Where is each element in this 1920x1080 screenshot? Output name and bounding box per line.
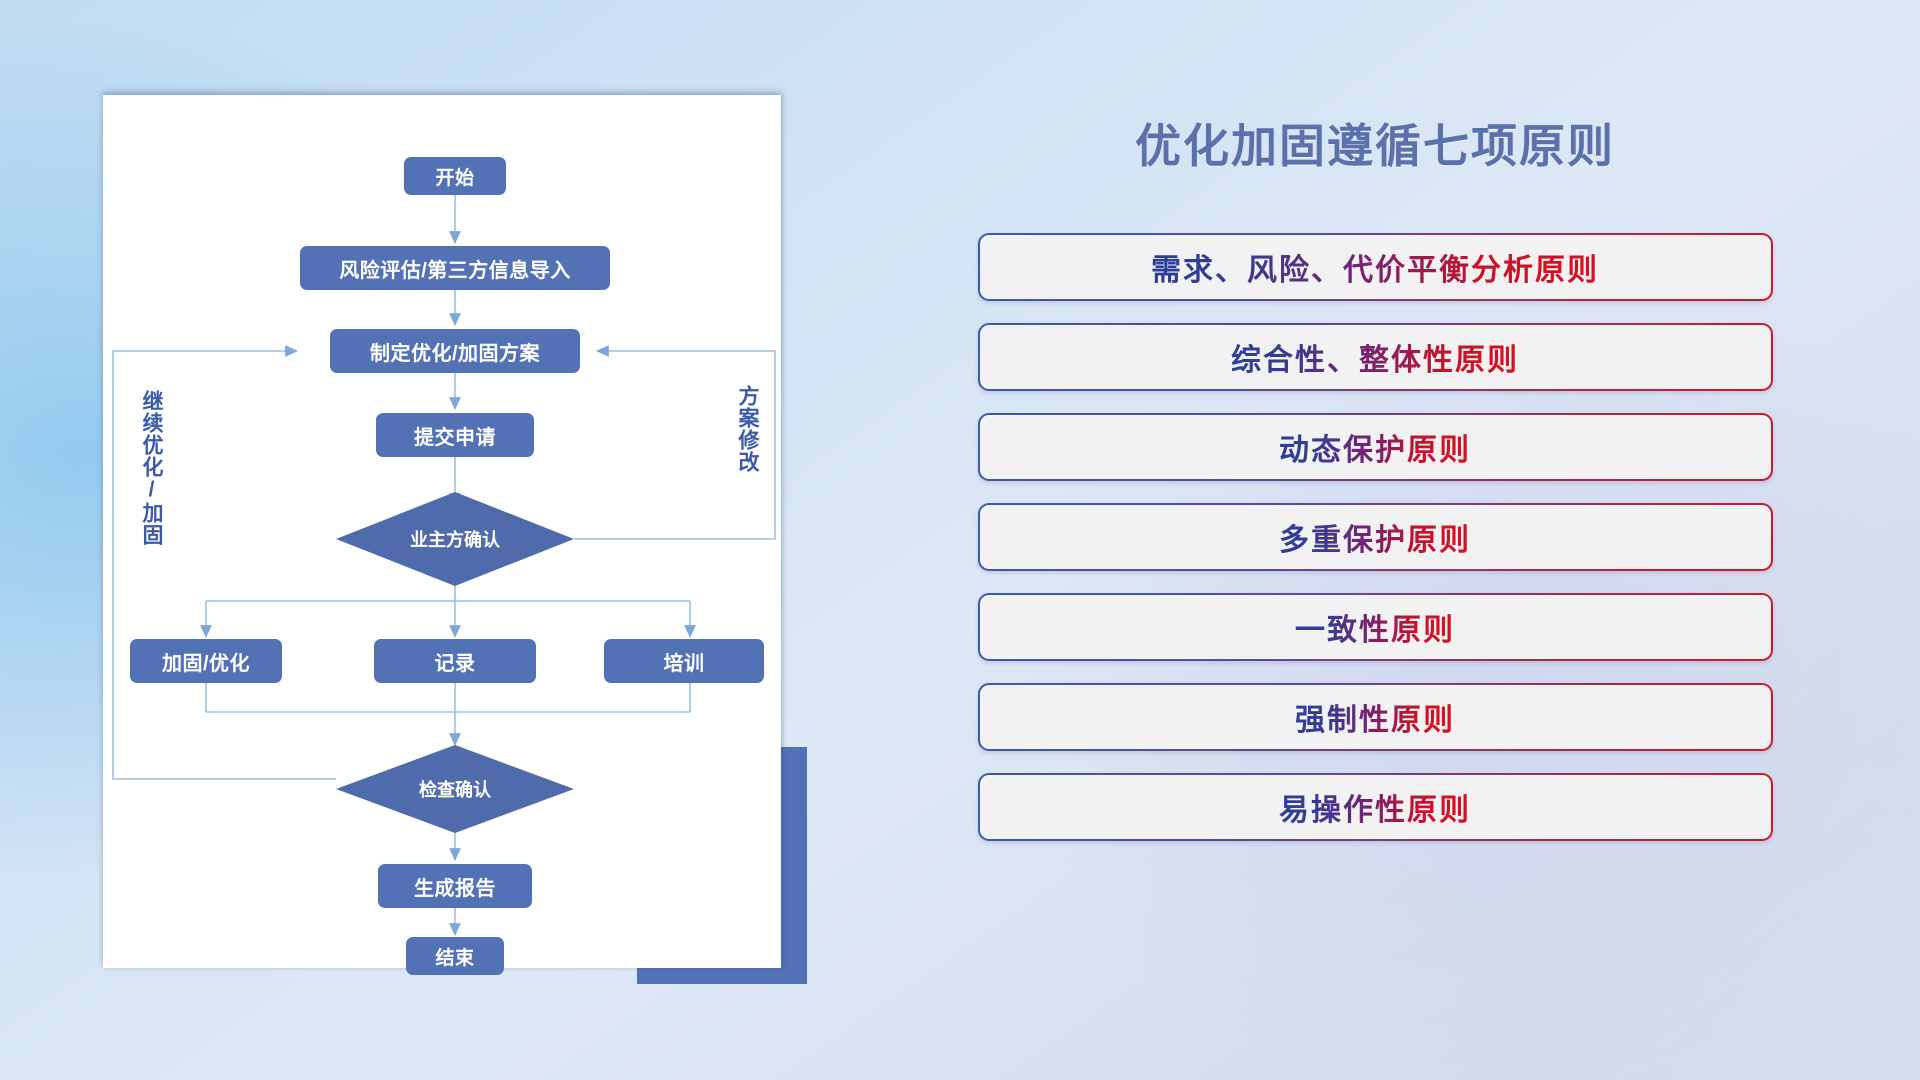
flow-node-label: 提交申请 — [414, 421, 496, 450]
principle-label: 需求、风险、代价平衡分析原则 — [1151, 245, 1599, 289]
flow-node-label: 记录 — [435, 647, 476, 676]
principle-label: 易操作性原则 — [1279, 785, 1471, 829]
principle-item[interactable]: 需求、风险、代价平衡分析原则 — [978, 233, 1773, 301]
principles-panel: 优化加固遵循七项原则 需求、风险、代价平衡分析原则 综合性、整体性原则 动态保护… — [830, 0, 1920, 1080]
flow-node-label: 业主方确认 — [410, 526, 500, 552]
panel-title: 优化加固遵循七项原则 — [830, 110, 1920, 176]
flow-node-plan[interactable]: 制定优化/加固方案 — [330, 329, 580, 373]
principle-item[interactable]: 易操作性原则 — [978, 773, 1773, 841]
flow-edge-label-plan-revision: 方案修改 — [736, 385, 758, 473]
flow-node-reinforce-optimize[interactable]: 加固/优化 — [130, 639, 282, 683]
principle-item-inner: 动态保护原则 — [980, 415, 1771, 479]
flow-node-generate-report[interactable]: 生成报告 — [378, 864, 532, 908]
flow-node-end[interactable]: 结束 — [406, 937, 504, 975]
flow-node-risk-assessment[interactable]: 风险评估/第三方信息导入 — [300, 246, 610, 290]
principle-item-inner: 多重保护原则 — [980, 505, 1771, 569]
principle-item[interactable]: 多重保护原则 — [978, 503, 1773, 571]
flow-node-submit-application[interactable]: 提交申请 — [376, 413, 534, 457]
flow-node-label: 检查确认 — [419, 776, 491, 802]
flow-node-label: 风险评估/第三方信息导入 — [339, 254, 571, 283]
flow-node-label: 培训 — [664, 647, 705, 676]
principle-item-inner: 一致性原则 — [980, 595, 1771, 659]
principle-item[interactable]: 综合性、整体性原则 — [978, 323, 1773, 391]
flow-node-label: 加固/优化 — [162, 647, 250, 676]
flow-node-training[interactable]: 培训 — [604, 639, 764, 683]
principle-item[interactable]: 强制性原则 — [978, 683, 1773, 751]
flow-node-label: 开始 — [435, 163, 474, 190]
flow-node-record[interactable]: 记录 — [374, 639, 536, 683]
principle-item[interactable]: 动态保护原则 — [978, 413, 1773, 481]
principle-label: 多重保护原则 — [1279, 515, 1471, 559]
flow-node-label: 生成报告 — [414, 872, 496, 901]
principle-item-inner: 强制性原则 — [980, 685, 1771, 749]
flow-node-label: 结束 — [435, 943, 474, 970]
flow-node-start[interactable]: 开始 — [404, 157, 506, 195]
principle-label: 动态保护原则 — [1279, 425, 1471, 469]
principle-item-inner: 综合性、整体性原则 — [980, 325, 1771, 389]
flow-edge-label-continue-optimize: 继续优化/加固 — [140, 390, 162, 546]
flow-node-label: 制定优化/加固方案 — [370, 337, 540, 366]
principle-label: 强制性原则 — [1295, 695, 1455, 739]
principle-label: 综合性、整体性原则 — [1231, 335, 1519, 379]
principle-item-inner: 易操作性原则 — [980, 775, 1771, 839]
principle-item[interactable]: 一致性原则 — [978, 593, 1773, 661]
principle-label: 一致性原则 — [1295, 605, 1455, 649]
flowchart-panel: 开始 风险评估/第三方信息导入 制定优化/加固方案 提交申请 业主方确认 加固/… — [0, 0, 830, 1080]
principle-item-inner: 需求、风险、代价平衡分析原则 — [980, 235, 1771, 299]
principles-list: 需求、风险、代价平衡分析原则 综合性、整体性原则 动态保护原则 多重保护原则 一… — [830, 233, 1920, 863]
